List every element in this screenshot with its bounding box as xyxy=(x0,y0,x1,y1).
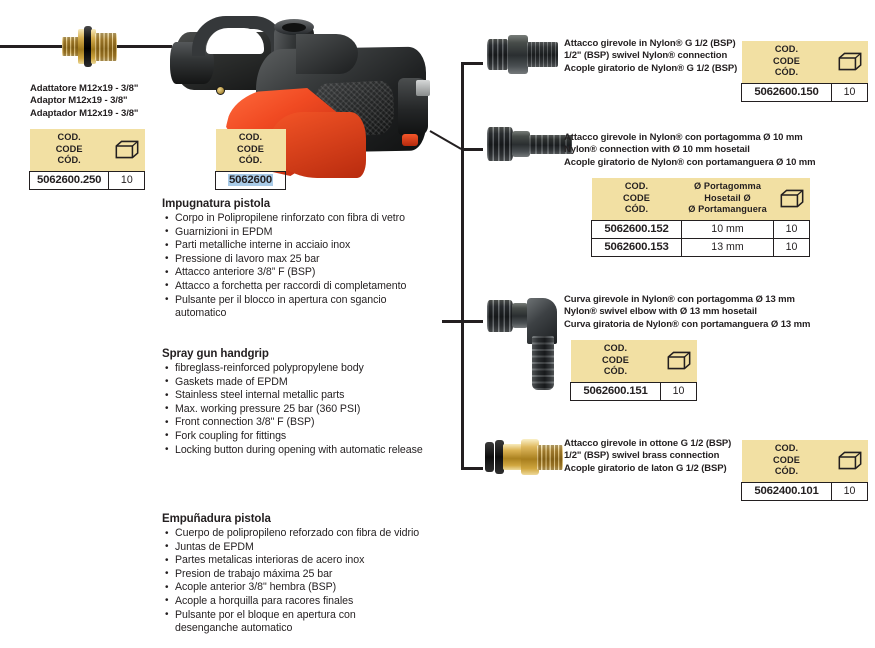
qty-value: 10 xyxy=(832,482,868,500)
table-row: 5062600.151 10 xyxy=(571,382,697,400)
list-item: Juntas de EPDM xyxy=(162,541,462,555)
qty-value: 10 xyxy=(661,382,697,400)
product-table-nylon-swivel-elbow: COD. CODE CÓD. 5062600.151 10 xyxy=(570,340,697,401)
list-item: Guarnizioni in EPDM xyxy=(162,226,462,240)
adaptor-code-table-wrap: COD. CODE CÓD. 5062600.250 10 xyxy=(29,129,145,190)
specs-italian-title: Impugnatura pistola xyxy=(162,198,462,210)
size-header: Ø Portagomma Hosetail Ø Ø Portamanguera xyxy=(682,178,774,220)
product-caption-brass-swivel-g12: Attacco girevole in ottone G 1/2 (BSP) 1… xyxy=(564,438,731,475)
code-value: 5062400.101 xyxy=(742,482,832,500)
box-header xyxy=(832,440,868,482)
list-item: Front connection 3/8" F (BSP) xyxy=(162,416,462,430)
carton-box-icon xyxy=(115,140,139,159)
code-value: 5062600.152 xyxy=(592,220,682,238)
handgrip-code-value: 5062600 xyxy=(216,171,286,189)
connector-line-left-inner xyxy=(117,45,172,48)
product-caption-nylon-swivel-g12: Attacco girevole in Nylon® G 1/2 (BSP) 1… xyxy=(564,38,737,75)
bracket-stub-4 xyxy=(461,467,483,470)
specs-english-title: Spray gun handgrip xyxy=(162,348,462,360)
adaptor-caption-it: Adattatore M12x19 - 3/8" xyxy=(30,83,138,95)
adaptor-code-header: COD. CODE CÓD. xyxy=(30,129,109,171)
list-item: Pulsante por el bloque en apertura con d… xyxy=(162,609,400,636)
adaptor-code-value: 5062600.250 xyxy=(30,171,109,189)
code-header: COD. CODE CÓD. xyxy=(742,41,832,83)
bracket-stub-2 xyxy=(461,148,483,151)
code-value: 5062600.150 xyxy=(742,83,832,101)
specs-italian-list: Corpo in Polipropilene rinforzato con fi… xyxy=(162,212,462,321)
specs-spanish: Empuñadura pistola Cuerpo de polipropile… xyxy=(162,513,462,636)
list-item: Pulsante per il blocco in apertura con s… xyxy=(162,294,390,321)
carton-box-icon xyxy=(667,351,691,370)
handgrip-code-table: COD. CODE CÓD. 5062600 xyxy=(215,129,286,190)
specs-english: Spray gun handgrip fibreglass-reinforced… xyxy=(162,348,462,457)
box-header xyxy=(661,340,697,382)
list-item: Parti metalliche interne in acciaio inox xyxy=(162,239,462,253)
code-value: 5062600.153 xyxy=(592,238,682,256)
adaptor-box-header xyxy=(109,129,145,171)
qty-value: 10 xyxy=(832,83,868,101)
list-item: Acople anterior 3/8" hembra (BSP) xyxy=(162,581,462,595)
specs-spanish-list: Cuerpo de polipropileno reforzado con fi… xyxy=(162,527,462,636)
handgrip-code-header: COD. CODE CÓD. xyxy=(216,129,286,171)
list-item: Attacco a forchetta per raccordi di comp… xyxy=(162,280,462,294)
adaptor-caption-en: Adaptor M12x19 - 3/8" xyxy=(30,95,138,107)
spray-gun-photo xyxy=(170,4,438,179)
product-table-wrap-nylon-swivel-g12: COD. CODE CÓD. 5062600.150 10 xyxy=(741,41,868,102)
specs-spanish-title: Empuñadura pistola xyxy=(162,513,462,525)
product-table-nylon-hosetail: COD. CODE CÓD. Ø Portagomma Hosetail Ø Ø… xyxy=(591,178,810,257)
list-item: Corpo in Polipropilene rinforzato con fi… xyxy=(162,212,462,226)
connector-line-left-outer xyxy=(0,45,62,48)
adaptor-qty-value: 10 xyxy=(109,171,145,189)
list-item: Presion de trabajo máxima 25 bar xyxy=(162,568,462,582)
list-item: Max. working pressure 25 bar (360 PSI) xyxy=(162,403,462,417)
bracket-stub-1 xyxy=(461,62,483,65)
specs-italian: Impugnatura pistola Corpo in Polipropile… xyxy=(162,198,462,321)
code-value: 5062600.151 xyxy=(571,382,661,400)
adaptor-caption: Adattatore M12x19 - 3/8" Adaptor M12x19 … xyxy=(30,83,138,120)
product-photo-brass-swivel-g12 xyxy=(485,434,563,478)
table-row: 5062400.101 10 xyxy=(742,482,868,500)
list-item: Pressione di lavoro max 25 bar xyxy=(162,253,462,267)
table-row: 5062600.153 13 mm 10 xyxy=(592,238,810,256)
carton-box-icon xyxy=(780,189,804,208)
handgrip-code-highlight: 5062600 xyxy=(228,174,273,186)
handgrip-code-table-wrap: COD. CODE CÓD. 5062600 xyxy=(215,129,286,190)
list-item: Partes metalicas interioras de acero ino… xyxy=(162,554,462,568)
bracket-stub-3 xyxy=(442,320,483,323)
list-item: Cuerpo de polipropileno reforzado con fi… xyxy=(162,527,462,541)
size-value: 10 mm xyxy=(682,220,774,238)
list-item: Attacco anteriore 3/8” F (BSP) xyxy=(162,266,462,280)
code-header: COD. CODE CÓD. xyxy=(742,440,832,482)
table-row: 5062600.150 10 xyxy=(742,83,868,101)
product-photo-nylon-swivel-g12 xyxy=(487,34,559,76)
list-item: Fork coupling for fittings xyxy=(162,430,462,444)
list-item: fibreglass-reinforced polypropylene body xyxy=(162,362,462,376)
bracket-spine xyxy=(461,62,464,470)
code-header: COD. CODE CÓD. xyxy=(592,178,682,220)
box-header xyxy=(832,41,868,83)
product-table-wrap-nylon-hosetail: COD. CODE CÓD. Ø Portagomma Hosetail Ø Ø… xyxy=(591,178,810,257)
qty-value: 10 xyxy=(774,220,810,238)
qty-value: 10 xyxy=(774,238,810,256)
product-photo-nylon-swivel-elbow xyxy=(487,296,567,392)
carton-box-icon xyxy=(838,451,862,470)
product-table-wrap-brass-swivel-g12: COD. CODE CÓD. 5062400.101 10 xyxy=(741,440,868,501)
adaptor-caption-es: Adaptador M12x19 - 3/8" xyxy=(30,108,138,120)
product-photo-nylon-hosetail xyxy=(487,124,573,166)
product-caption-nylon-hosetail: Attacco girevole in Nylon® con portagomm… xyxy=(564,132,816,169)
list-item: Gaskets made of EPDM xyxy=(162,376,462,390)
size-value: 13 mm xyxy=(682,238,774,256)
adaptor-photo xyxy=(60,18,118,74)
product-table-wrap-nylon-swivel-elbow: COD. CODE CÓD. 5062600.151 10 xyxy=(570,340,697,401)
table-row: 5062600.152 10 mm 10 xyxy=(592,220,810,238)
product-caption-nylon-swivel-elbow: Curva girevole in Nylon® con portagomma … xyxy=(564,294,810,331)
adaptor-code-table: COD. CODE CÓD. 5062600.250 10 xyxy=(29,129,145,190)
code-header: COD. CODE CÓD. xyxy=(571,340,661,382)
list-item: Stainless steel internal metallic parts xyxy=(162,389,462,403)
product-table-brass-swivel-g12: COD. CODE CÓD. 5062400.101 10 xyxy=(741,440,868,501)
specs-english-list: fibreglass-reinforced polypropylene body… xyxy=(162,362,462,457)
list-item: Acople a horquilla para racores finales xyxy=(162,595,462,609)
box-header xyxy=(774,178,810,220)
product-table-nylon-swivel-g12: COD. CODE CÓD. 5062600.150 10 xyxy=(741,41,868,102)
carton-box-icon xyxy=(838,52,862,71)
list-item: Locking button during opening with autom… xyxy=(162,444,462,458)
